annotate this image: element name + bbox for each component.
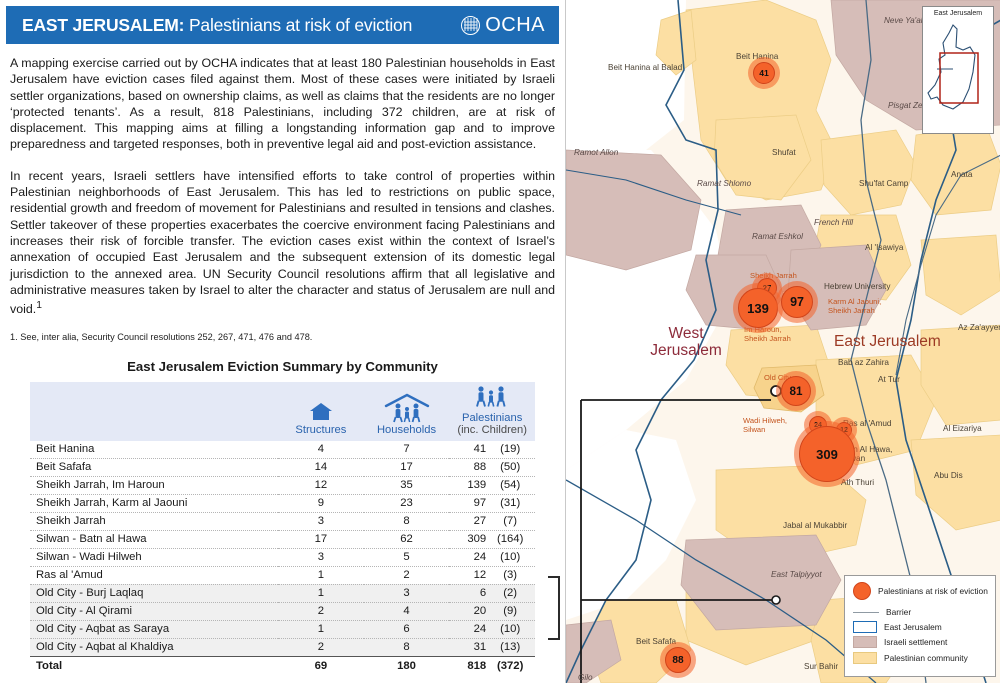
map-place-label: Karm Al Jaouni,Sheikh Jarrah: [828, 297, 881, 315]
map-marker-value: 139: [747, 301, 769, 316]
cell-children-count: (7): [486, 515, 534, 527]
intro-paragraph-1: A mapping exercise carried out by OCHA i…: [10, 55, 555, 153]
legend-item-israeli-settlement: Israeli settlement: [853, 636, 989, 648]
map-place-label: French Hill: [814, 218, 853, 227]
map-place-label: Hebrew University: [824, 282, 890, 291]
inset-map-title: East Jerusalem: [923, 10, 993, 17]
cell-children-count: (50): [486, 461, 534, 473]
footnote-text: 1. See, inter alia, Security Council res…: [10, 331, 555, 343]
cell-palestinians: 31(13): [449, 638, 535, 656]
table-row: Old City - Burj Laqlaq136(2): [30, 584, 535, 602]
table-row: Silwan - Wadi Hilweh3524(10): [30, 548, 535, 566]
cell-structures: 4: [278, 441, 364, 459]
cell-pal-count: 88: [450, 461, 486, 473]
cell-children-count: (3): [486, 569, 534, 581]
east-jerusalem-label: East Jerusalem: [834, 333, 941, 351]
total-pal-count: 818: [450, 660, 486, 672]
total-structures: 69: [278, 656, 364, 675]
cell-children-count: (54): [486, 479, 534, 491]
total-label: Total: [30, 656, 278, 675]
eviction-summary-table: Structures: [30, 382, 535, 675]
map-place-label: Ramat Eshkol: [752, 232, 803, 241]
map-marker[interactable]: 139: [738, 288, 778, 328]
map-marker[interactable]: 309: [799, 426, 855, 482]
table-row: Beit Hanina4741(19): [30, 441, 535, 459]
map-marker[interactable]: 88: [665, 647, 691, 673]
cell-children-count: (164): [486, 533, 534, 545]
cell-community: Old City - Burj Laqlaq: [30, 584, 278, 602]
map-marker-value: 88: [672, 655, 683, 666]
cell-pal-count: 309: [450, 533, 486, 545]
cell-community: Sheikh Jarrah, Im Haroun: [30, 476, 278, 494]
table-row: Old City - Aqbat as Saraya1624(10): [30, 620, 535, 638]
cell-structures: 3: [278, 512, 364, 530]
cell-children-count: (10): [486, 623, 534, 635]
legend-item-barrier: Barrier: [853, 607, 989, 617]
map-place-label: Gilo: [578, 673, 593, 682]
cell-pal-count: 31: [450, 641, 486, 653]
cell-households: 3: [364, 584, 450, 602]
inset-map-graphic: [923, 17, 993, 125]
cell-community: Sheikh Jarrah, Karm al Jaouni: [30, 494, 278, 512]
th-pal-sub: (inc. Children): [457, 424, 527, 436]
cell-community: Old City - Aqbat al Khaldiya: [30, 638, 278, 656]
table-row: Sheikh Jarrah3827(7): [30, 512, 535, 530]
table-row: Sheikh Jarrah, Im Haroun1235139(54): [30, 476, 535, 494]
legend-label-3: Israeli settlement: [884, 637, 947, 647]
table-total-row: Total69180818(372): [30, 656, 535, 675]
table-row: Beit Safafa141788(50): [30, 458, 535, 476]
ocha-logo: OCHA: [461, 14, 545, 37]
cell-structures: 12: [278, 476, 364, 494]
cell-pal-count: 27: [450, 515, 486, 527]
th-households: Households: [364, 382, 450, 441]
map-place-label: Jabal al Mukabbir: [783, 521, 847, 530]
map-marker-value: 97: [790, 295, 804, 309]
th-structures-label: Structures: [295, 424, 346, 436]
old-city-group-bracket: [548, 576, 562, 640]
cell-structures: 1: [278, 584, 364, 602]
cell-palestinians: 24(10): [449, 548, 535, 566]
map-marker-value: 81: [789, 385, 802, 398]
legend-item-east-jerusalem: East Jerusalem: [853, 621, 989, 633]
map-place-label: At Tur: [878, 375, 900, 384]
cell-palestinians: 6(2): [449, 584, 535, 602]
total-children-count: (372): [486, 660, 534, 672]
cell-children-count: (13): [486, 641, 534, 653]
table-row: Silwan - Batn al Hawa1762309(164): [30, 530, 535, 548]
cell-pal-count: 20: [450, 605, 486, 617]
cell-children-count: (10): [486, 551, 534, 563]
paragraph-2-text: In recent years, Israeli settlers have i…: [10, 169, 555, 317]
total-households: 180: [364, 656, 450, 675]
cell-pal-count: 12: [450, 569, 486, 581]
map-marker-value: 309: [816, 447, 838, 462]
table-header-row: Structures: [30, 382, 535, 441]
cell-children-count: (9): [486, 605, 534, 617]
cell-palestinians: 88(50): [449, 458, 535, 476]
map-place-label: Shufat: [772, 148, 796, 157]
cell-pal-count: 41: [450, 443, 486, 455]
cell-community: Beit Safafa: [30, 458, 278, 476]
cell-pal-count: 24: [450, 623, 486, 635]
map-place-label: Beit Hanina al Balad: [608, 63, 682, 72]
ocha-label: OCHA: [485, 14, 545, 37]
map-place-label: Wadi Hilweh,Silwan: [743, 416, 787, 434]
cell-households: 6: [364, 620, 450, 638]
legend-label-1: Barrier: [886, 607, 911, 617]
cell-households: 8: [364, 512, 450, 530]
cell-community: Beit Hanina: [30, 441, 278, 459]
cell-palestinians: 41(19): [449, 441, 535, 459]
cell-households: 23: [364, 494, 450, 512]
cell-pal-count: 139: [450, 479, 486, 491]
cell-palestinians: 24(10): [449, 620, 535, 638]
family-icon: [468, 383, 516, 411]
th-community: [30, 382, 278, 441]
cell-community: Sheikh Jarrah: [30, 512, 278, 530]
table-row: Old City - Aqbat al Khaldiya2831(13): [30, 638, 535, 656]
cell-community: Old City - Aqbat as Saraya: [30, 620, 278, 638]
cell-pal-count: 97: [450, 497, 486, 509]
cell-children-count: (19): [486, 443, 534, 455]
cell-palestinians: 139(54): [449, 476, 535, 494]
cell-structures: 2: [278, 638, 364, 656]
cell-community: Old City - Al Qirami: [30, 602, 278, 620]
cell-pal-count: 6: [450, 587, 486, 599]
th-structures: Structures: [278, 382, 364, 441]
header-bar: EAST JERUSALEM: Palestinians at risk of …: [6, 6, 559, 44]
total-palestinians: 818(372): [449, 656, 535, 675]
map-place-label: Bab az Zahira: [838, 358, 889, 367]
house-icon: [308, 401, 334, 423]
table-row: Ras al 'Amud1212(3): [30, 566, 535, 584]
map-place-label: Al Eizariya: [943, 424, 982, 433]
map-place-label: Abu Dis: [934, 471, 963, 480]
footnote-marker: 1: [36, 300, 42, 311]
map-place-label: Shu'fat Camp: [859, 179, 908, 188]
table-body: Beit Hanina4741(19)Beit Safafa141788(50)…: [30, 441, 535, 675]
table-row: Sheikh Jarrah, Karm al Jaouni92397(31): [30, 494, 535, 512]
family-under-roof-icon: [378, 393, 436, 423]
cell-structures: 17: [278, 530, 364, 548]
summary-table-wrap: Structures: [30, 382, 535, 675]
blue-outline-box-swatch-icon: [853, 621, 877, 633]
cell-palestinians: 309(164): [449, 530, 535, 548]
page-title-rest: Palestinians at risk of eviction: [184, 15, 412, 35]
inset-map[interactable]: East Jerusalem: [922, 6, 994, 134]
table-head: Structures: [30, 382, 535, 441]
cell-households: 5: [364, 548, 450, 566]
th-pal-main: Palestinians: [462, 412, 522, 424]
map-legend: Palestinians at risk of eviction Barrier…: [844, 575, 996, 677]
cell-children-count: (2): [486, 587, 534, 599]
cell-households: 62: [364, 530, 450, 548]
map-place-label: Ramat Shlomo: [697, 179, 751, 188]
left-panel: EAST JERUSALEM: Palestinians at risk of …: [0, 0, 565, 683]
cell-structures: 1: [278, 566, 364, 584]
cell-structures: 3: [278, 548, 364, 566]
map-place-label: East Talpiyyot: [771, 570, 822, 579]
page-title-strong: EAST JERUSALEM:: [22, 15, 184, 35]
table-row: Old City - Al Qirami2420(9): [30, 602, 535, 620]
cell-structures: 14: [278, 458, 364, 476]
cell-pal-count: 24: [450, 551, 486, 563]
cell-children-count: (31): [486, 497, 534, 509]
cell-community: Silwan - Wadi Hilweh: [30, 548, 278, 566]
cell-community: Silwan - Batn al Hawa: [30, 530, 278, 548]
legend-item-palestinian-community: Palestinian community: [853, 652, 989, 664]
legend-label-4: Palestinian community: [884, 653, 968, 663]
cell-households: 7: [364, 441, 450, 459]
th-palestinians: Palestinians (inc. Children): [449, 382, 535, 441]
legend-label-0: Palestinians at risk of eviction: [878, 586, 988, 596]
cell-households: 35: [364, 476, 450, 494]
yellow-fill-swatch-icon: [853, 652, 877, 664]
infographic-page: EAST JERUSALEM: Palestinians at risk of …: [0, 0, 1000, 683]
legend-label-2: East Jerusalem: [884, 622, 942, 632]
west-jerusalem-label: WestJerusalem: [626, 325, 746, 359]
cell-households: 17: [364, 458, 450, 476]
intro-paragraph-2: In recent years, Israeli settlers have i…: [10, 168, 555, 318]
map-place-label: Al 'Isawiya: [865, 243, 903, 252]
cell-structures: 2: [278, 602, 364, 620]
cell-palestinians: 97(31): [449, 494, 535, 512]
un-emblem-icon: [461, 16, 480, 35]
cell-structures: 1: [278, 620, 364, 638]
map-place-label: Az Za'ayyem: [958, 323, 1000, 332]
cell-community: Ras al 'Amud: [30, 566, 278, 584]
cell-households: 2: [364, 566, 450, 584]
th-palestinians-label: Palestinians (inc. Children): [450, 412, 534, 436]
map-marker-value: 41: [759, 68, 769, 78]
orange-circle-swatch-icon: [853, 582, 871, 600]
pink-fill-swatch-icon: [853, 636, 877, 648]
map-marker[interactable]: 81: [781, 376, 811, 406]
grey-line-swatch-icon: [853, 612, 879, 613]
cell-palestinians: 27(7): [449, 512, 535, 530]
map-marker[interactable]: 97: [781, 286, 813, 318]
cell-households: 8: [364, 638, 450, 656]
map-place-label: Sur Bahir: [804, 662, 838, 671]
cell-structures: 9: [278, 494, 364, 512]
map-place-label: Ramot Allon: [574, 148, 618, 157]
map-panel[interactable]: Neve Ya'akovBeit Hanina al BaladBeit Han…: [565, 0, 1000, 683]
cell-palestinians: 20(9): [449, 602, 535, 620]
cell-households: 4: [364, 602, 450, 620]
legend-item-markers: Palestinians at risk of eviction: [853, 582, 989, 600]
table-title: East Jerusalem Eviction Summary by Commu…: [0, 359, 565, 374]
th-households-label: Households: [377, 424, 436, 436]
map-place-label: Anata: [951, 170, 972, 179]
map-marker[interactable]: 41: [753, 62, 775, 84]
page-title: EAST JERUSALEM: Palestinians at risk of …: [22, 15, 412, 36]
cell-palestinians: 12(3): [449, 566, 535, 584]
